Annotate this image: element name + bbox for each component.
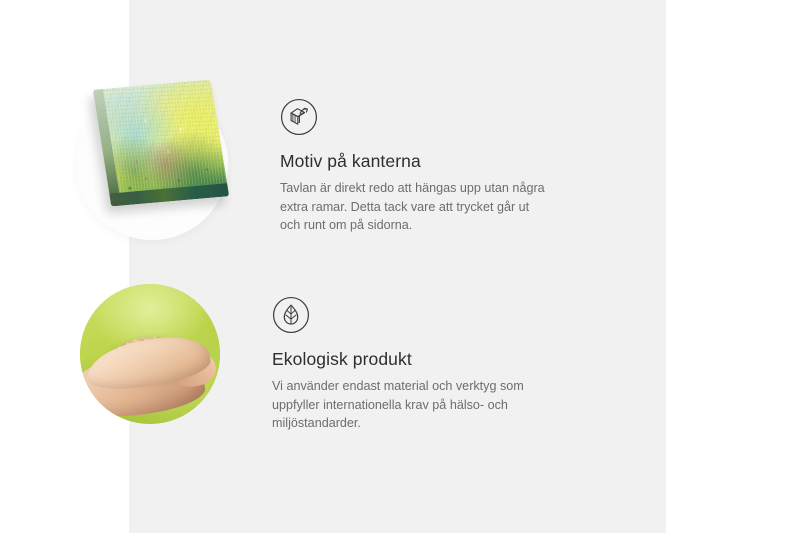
feature-description: Tavlan är direkt redo att hängas upp uta… [280,179,548,235]
canvas-print-photo [76,88,228,240]
canvas-wrapped-edges-icon [280,98,318,136]
feature-description: Vi använder endast material och verktyg … [272,377,540,433]
canvas-print-block [93,80,229,207]
leaf-icon [272,296,310,334]
feature-text-block: Motiv på kanterna Tavlan är direkt redo … [280,80,548,235]
feature-title: Ekologisk produkt [272,349,540,370]
feature-title: Motiv på kanterna [280,151,548,172]
feature-row: Motiv på kanterna Tavlan är direkt redo … [0,80,548,240]
feature-row: Ekologisk produkt Vi använder endast mat… [0,278,540,433]
product-feature-banner: Motiv på kanterna Tavlan är direkt redo … [0,0,800,533]
feature-text-block: Ekologisk produkt Vi använder endast mat… [272,278,540,433]
photo-grass-background [80,284,220,424]
hands-with-wood-chips-photo [80,284,220,424]
